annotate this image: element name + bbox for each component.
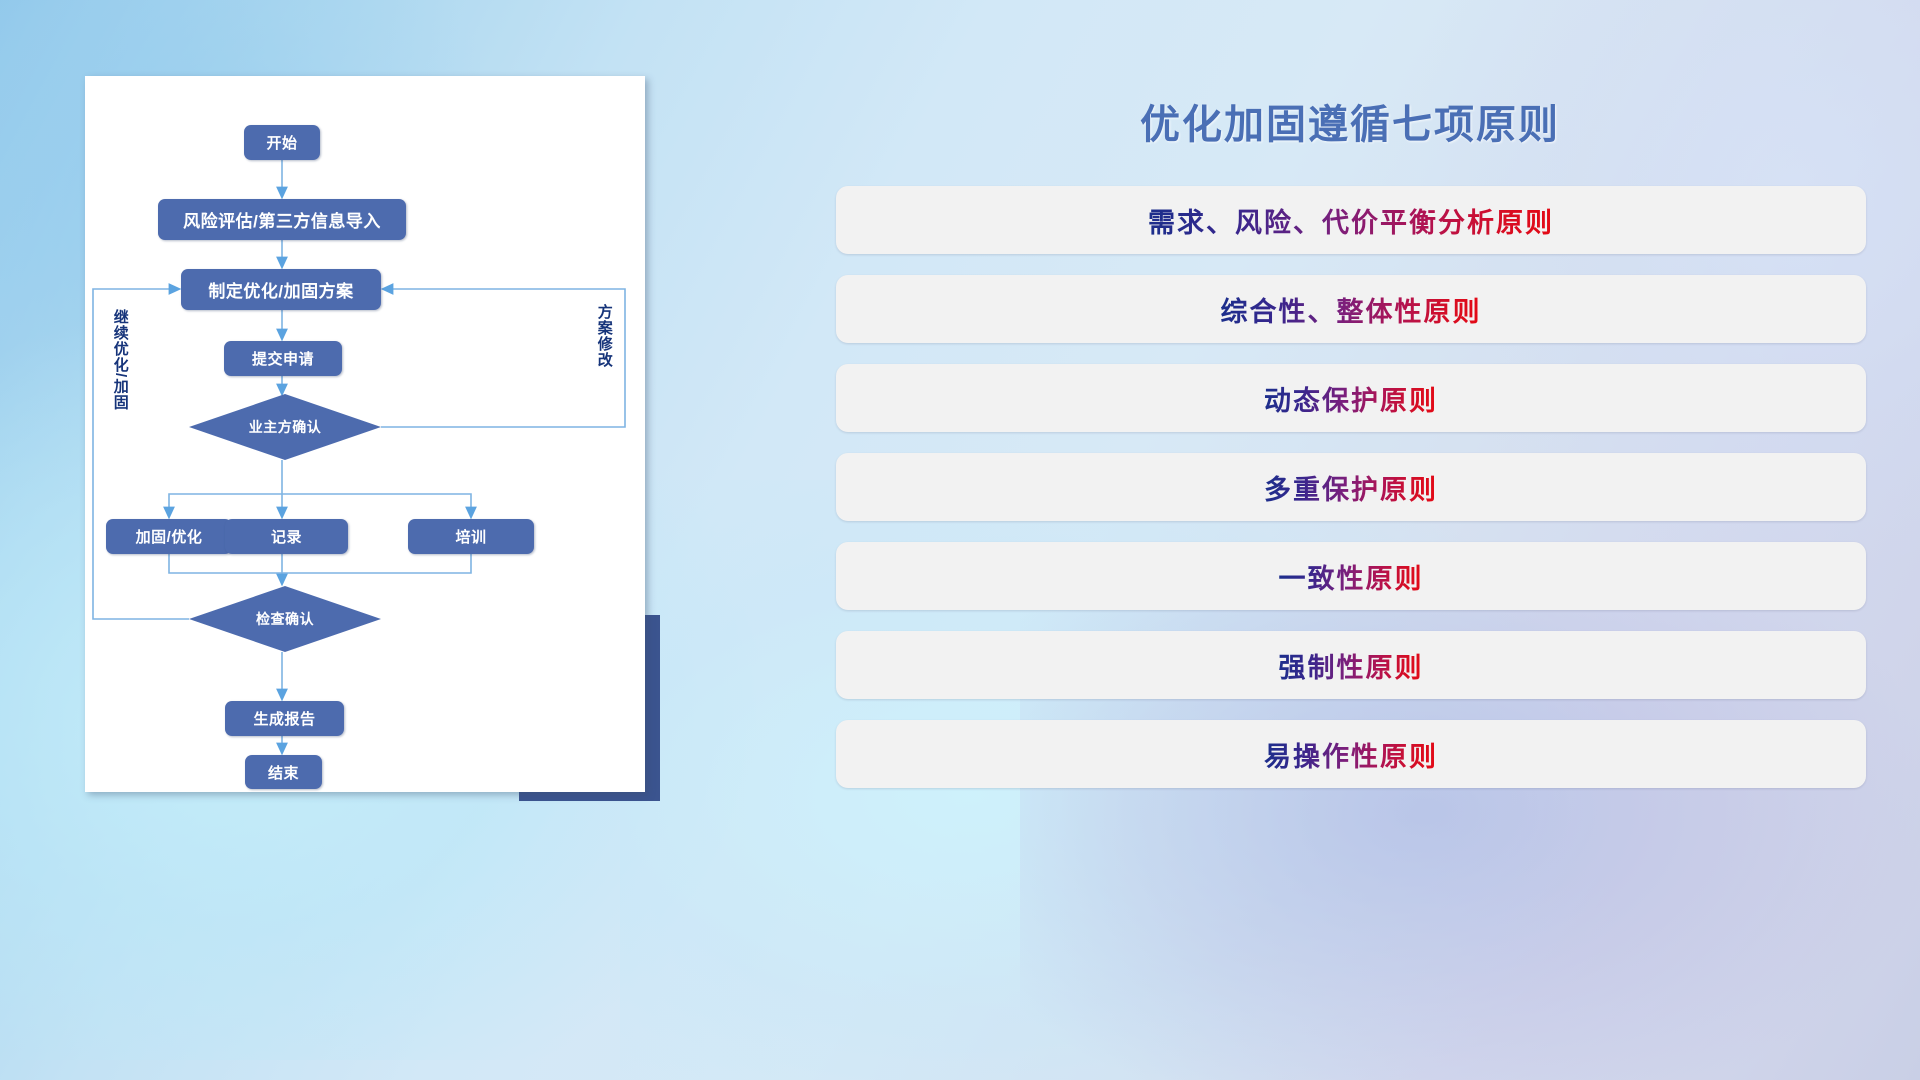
principle-item-label: 一致性原则 <box>1279 557 1424 596</box>
principle-item[interactable]: 需求、风险、代价平衡分析原则 <box>836 186 1866 254</box>
flow-node-owner-confirm-label: 业主方确认 <box>189 394 381 460</box>
principle-item[interactable]: 强制性原则 <box>836 631 1866 699</box>
principle-item-label: 综合性、整体性原则 <box>1221 290 1482 329</box>
principle-item-label: 易操作性原则 <box>1264 735 1438 774</box>
principle-item-label: 多重保护原则 <box>1264 468 1438 507</box>
flow-node-start[interactable]: 开始 <box>244 125 320 160</box>
principle-item-label: 强制性原则 <box>1279 646 1424 685</box>
flow-edge-label-right: 方案修改 <box>596 304 612 368</box>
flow-node-harden-optimize[interactable]: 加固/优化 <box>106 519 232 554</box>
flowchart-card: 开始 风险评估/第三方信息导入 制定优化/加固方案 提交申请 业主方确认 加固/… <box>85 76 645 792</box>
flow-node-end[interactable]: 结束 <box>245 755 322 789</box>
flow-node-inspection-confirm[interactable]: 检查确认 <box>189 586 381 652</box>
flow-node-make-plan[interactable]: 制定优化/加固方案 <box>181 269 381 310</box>
principles-panel: 优化加固遵循七项原则 需求、风险、代价平衡分析原则综合性、整体性原则动态保护原则… <box>820 70 1880 870</box>
principle-item-label: 动态保护原则 <box>1264 379 1438 418</box>
flow-node-risk-assessment[interactable]: 风险评估/第三方信息导入 <box>158 199 406 240</box>
flowchart: 开始 风险评估/第三方信息导入 制定优化/加固方案 提交申请 业主方确认 加固/… <box>85 76 645 792</box>
flow-edge-label-left: 继续优化/加固 <box>112 309 128 410</box>
flow-node-submit-application[interactable]: 提交申请 <box>224 341 342 376</box>
page-title: 优化加固遵循七项原则 <box>820 92 1880 150</box>
principle-item[interactable]: 一致性原则 <box>836 542 1866 610</box>
principle-item[interactable]: 多重保护原则 <box>836 453 1866 521</box>
principle-item-label: 需求、风险、代价平衡分析原则 <box>1148 201 1554 240</box>
flow-node-inspection-confirm-label: 检查确认 <box>189 586 381 652</box>
flow-node-generate-report[interactable]: 生成报告 <box>225 701 344 736</box>
flow-node-training[interactable]: 培训 <box>408 519 534 554</box>
principle-item[interactable]: 动态保护原则 <box>836 364 1866 432</box>
principle-item[interactable]: 易操作性原则 <box>836 720 1866 788</box>
flow-node-record[interactable]: 记录 <box>225 519 348 554</box>
principle-list: 需求、风险、代价平衡分析原则综合性、整体性原则动态保护原则多重保护原则一致性原则… <box>836 186 1866 809</box>
slide-canvas: 开始 风险评估/第三方信息导入 制定优化/加固方案 提交申请 业主方确认 加固/… <box>0 0 1920 1080</box>
principle-item[interactable]: 综合性、整体性原则 <box>836 275 1866 343</box>
flow-node-owner-confirm[interactable]: 业主方确认 <box>189 394 381 460</box>
